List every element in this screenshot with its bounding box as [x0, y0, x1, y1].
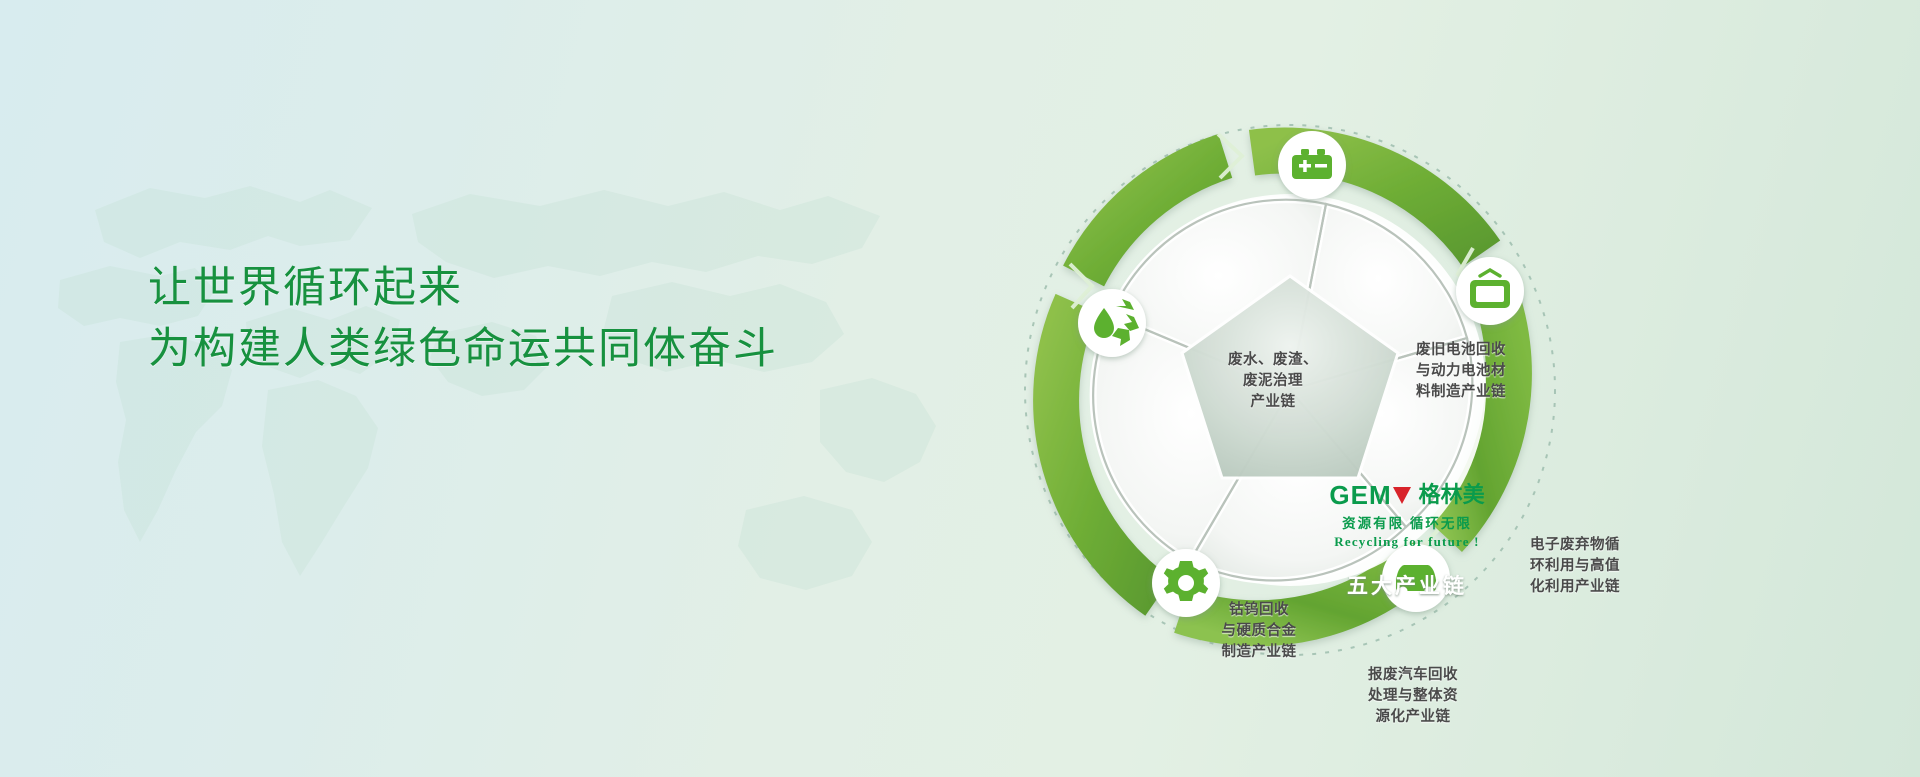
world-map-watermark [0, 90, 1000, 690]
five-industry-chain-diagram: 再利用 废品回收 材料制造 资源化利用 资源回收利用 [1020, 8, 1560, 768]
hero-banner: 让世界循环起来 为构建人类绿色命运共同体奋斗 [0, 0, 1920, 777]
headline-line-2: 为构建人类绿色命运共同体奋斗 [148, 319, 778, 380]
page-title: 让世界循环起来 为构建人类绿色命运共同体奋斗 [148, 258, 778, 380]
headline-line-1: 让世界循环起来 [148, 258, 778, 319]
car-icon [1396, 565, 1436, 596]
